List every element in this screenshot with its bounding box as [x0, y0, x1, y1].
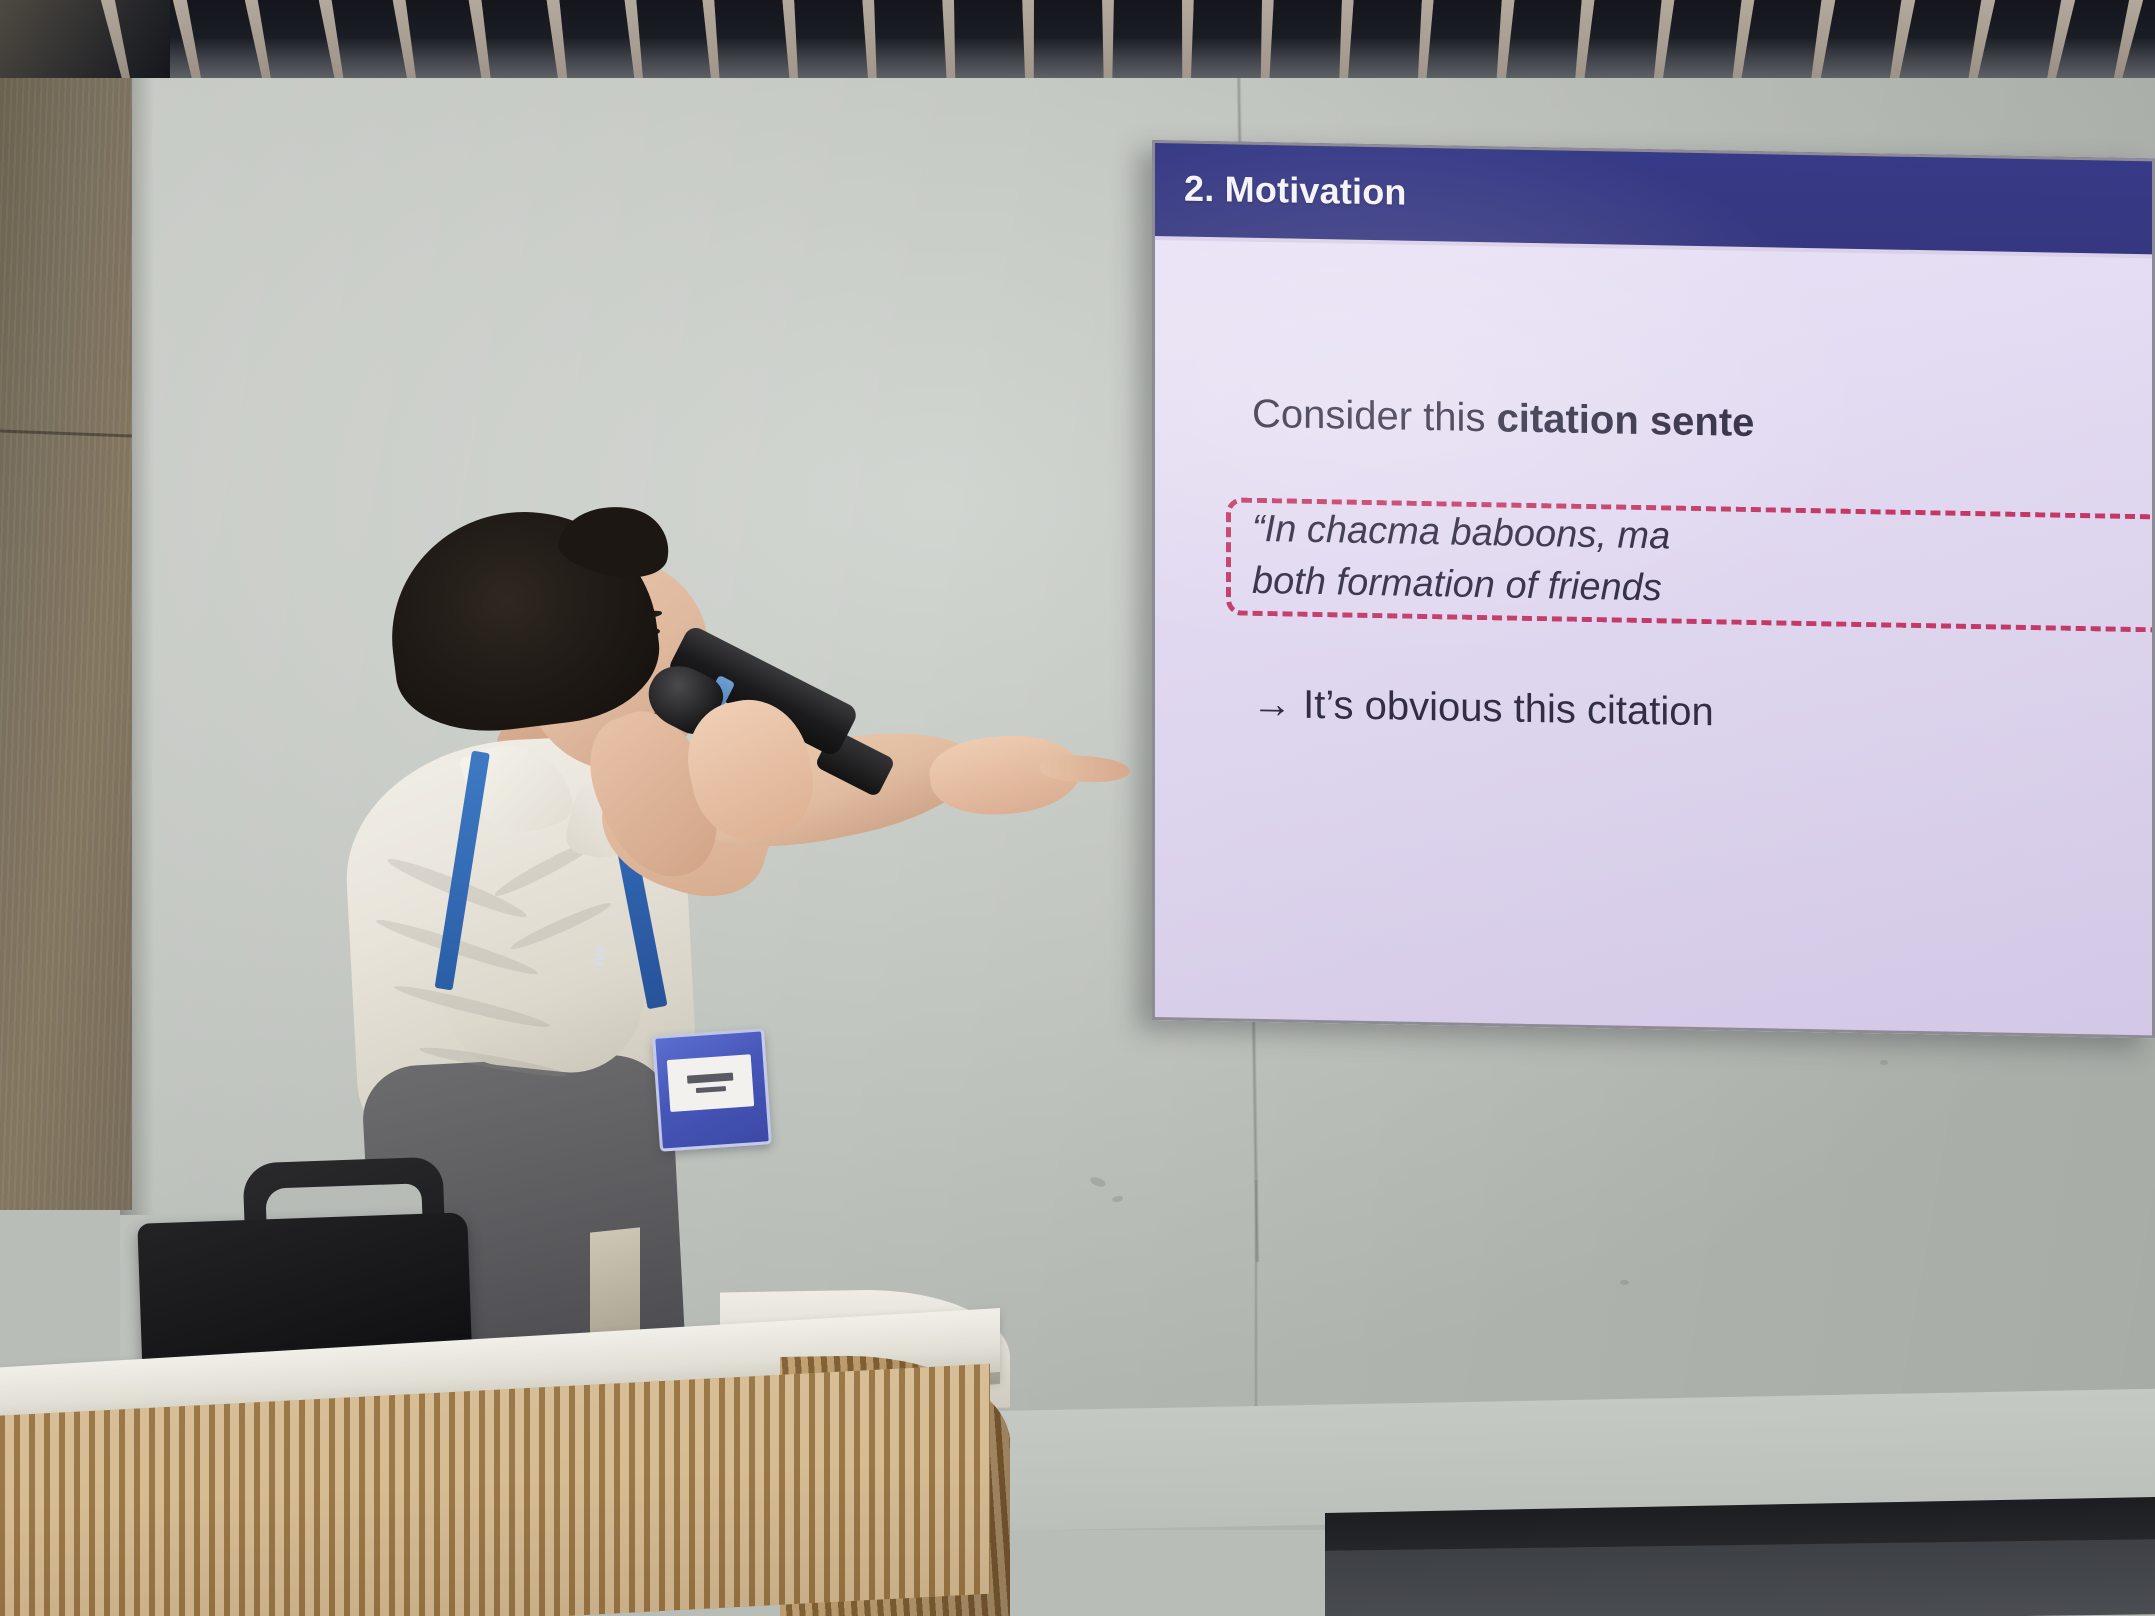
- presentation-photo-scene: 2. Motivation Consider this citation sen…: [0, 0, 2155, 1616]
- wall-smudge: [1880, 1060, 1888, 1065]
- stage-floor: [1325, 1539, 2155, 1616]
- badge-name-label: [667, 1054, 754, 1112]
- wall-smudge: [1620, 1280, 1629, 1285]
- badge-name-line: [687, 1073, 733, 1084]
- lanyard-text: IVF: [591, 929, 637, 971]
- badge-affiliation-line: [696, 1086, 726, 1093]
- conference-badge: [652, 1028, 772, 1152]
